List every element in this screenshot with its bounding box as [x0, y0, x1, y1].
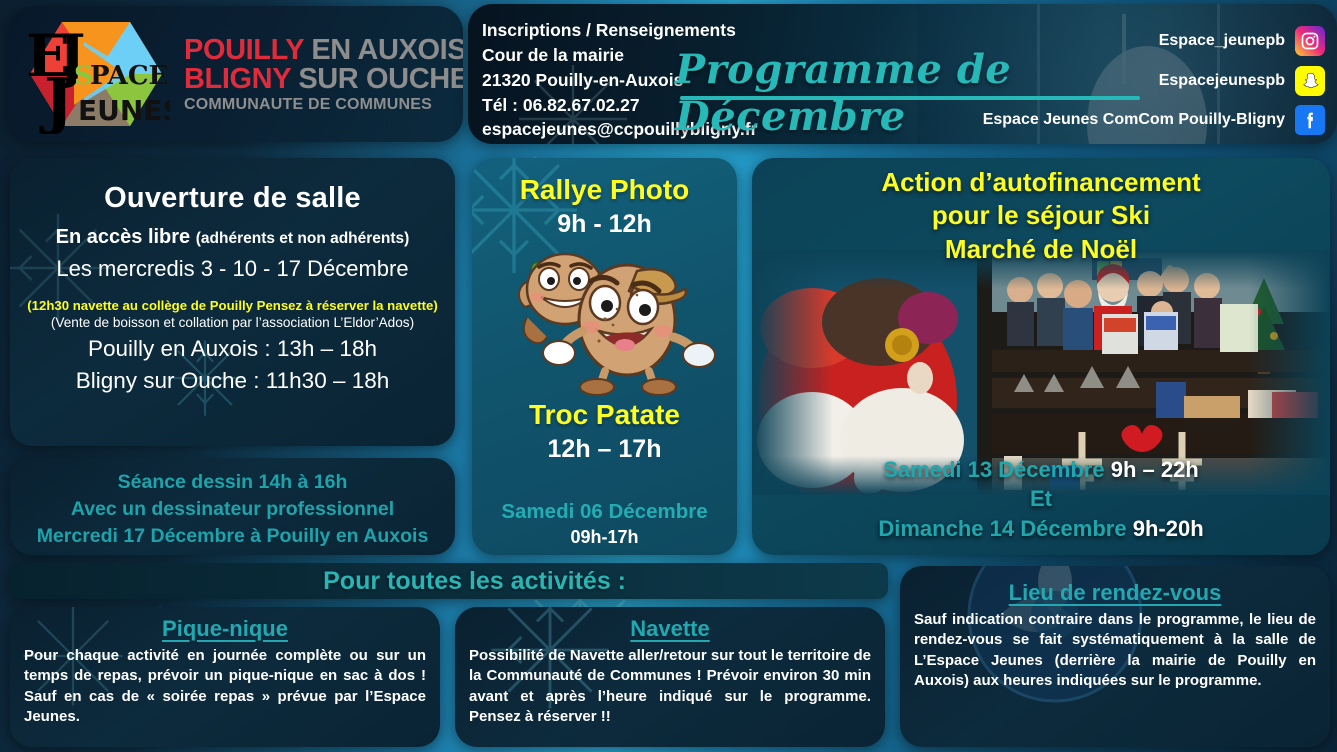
card-lieu-de-rendez-vous: Lieu de rendez-vous Sauf indication cont…: [900, 566, 1330, 747]
autofinancement-title-line-3: Marché de Noël: [752, 233, 1330, 266]
card-pique-nique-title: Pique-nique: [24, 616, 426, 642]
rallye-date-hours: 09h-17h: [472, 527, 737, 548]
logo-line1-red: POUILLY: [184, 34, 304, 66]
card-lieu-body: Sauf indication contraire dans le progra…: [914, 610, 1316, 692]
ouverture-title: Ouverture de salle: [24, 182, 441, 215]
poster-root: E J S PACE EUNES J POUILLY EN AUXOIS BLI…: [0, 0, 1337, 752]
autofinancement-date-1: Samedi 13 Décembre 9h – 22h: [752, 455, 1330, 484]
page-title-underline: [680, 96, 1140, 100]
header-info-panel: Inscriptions / Renseignements Cour de la…: [468, 4, 1337, 144]
autofinancement-date-1-hours: 9h – 22h: [1111, 457, 1199, 482]
card-lieu-title: Lieu de rendez-vous: [914, 580, 1316, 606]
rallye-hours: 9h - 12h: [472, 210, 737, 239]
ouverture-note-boisson: (Vente de boisson et collation par l’ass…: [24, 315, 441, 330]
card-navette-body: Possibilité de Navette aller/retour sur …: [469, 646, 871, 728]
logo-line3: COMMUNAUTE DE COMMUNES: [184, 97, 463, 113]
logo-line2-grey: SUR OUCHE: [298, 63, 463, 95]
autofinancement-date-2-label: Dimanche 14 Décembre: [878, 516, 1126, 541]
svg-text:PACE: PACE: [90, 61, 168, 91]
card-pique-nique: Pique-nique Pour chaque activité en jour…: [10, 607, 440, 747]
card-pique-nique-body: Pour chaque activité en journée complète…: [24, 646, 426, 728]
autofinancement-date-2-hours: 9h-20h: [1133, 516, 1204, 541]
banner-pour-toutes-les-activites: Pour toutes les activités :: [10, 563, 888, 599]
header-logo-panel: E J S PACE EUNES J POUILLY EN AUXOIS BLI…: [8, 6, 463, 142]
autofinancement-dates: Samedi 13 Décembre 9h – 22h Et Dimanche …: [752, 455, 1330, 543]
social-snapchat-label: Espacejeunespb: [1159, 72, 1285, 90]
ouverture-hours-bligny: Bligny sur Ouche : 11h30 – 18h: [24, 368, 441, 394]
autofinancement-title-line-2: pour le séjour Ski: [752, 199, 1330, 232]
autofinancement-title: Action d’autofinancement pour le séjour …: [752, 158, 1330, 266]
logo-line1-grey: EN AUXOIS: [311, 34, 463, 66]
social-facebook[interactable]: Espace Jeunes ComCom Pouilly-Bligny: [983, 105, 1325, 135]
dessin-line-3: Mercredi 17 Décembre à Pouilly en Auxois: [10, 523, 455, 550]
dessin-line-2: Avec un dessinateur professionnel: [10, 496, 455, 523]
social-instagram-label: Espace_jeunepb: [1159, 32, 1285, 50]
card-navette: Navette Possibilité de Navette aller/ret…: [455, 607, 885, 747]
autofinancement-date-1-label: Samedi 13 Décembre: [883, 457, 1104, 482]
panel-ouverture-de-salle: Ouverture de salle En accès libre (adhér…: [10, 158, 455, 446]
panel-action-autofinancement: Action d’autofinancement pour le séjour …: [752, 158, 1330, 555]
banner-label: Pour toutes les activités :: [10, 563, 888, 599]
contact-line-1: Inscriptions / Renseignements: [482, 18, 757, 43]
autofinancement-title-line-1: Action d’autofinancement: [752, 166, 1330, 199]
card-navette-title: Navette: [469, 616, 871, 642]
potato-mascots-icon: [487, 245, 722, 395]
social-facebook-label: Espace Jeunes ComCom Pouilly-Bligny: [983, 111, 1285, 129]
logo-line2-red: BLIGNY: [184, 63, 291, 95]
rallye-date: Samedi 06 Décembre: [472, 500, 737, 524]
instagram-icon[interactable]: [1295, 26, 1325, 56]
ouverture-subtitle: En accès libre (adhérents et non adhéren…: [24, 226, 441, 249]
espace-jeunes-logo-icon: E J S PACE EUNES J: [22, 14, 170, 134]
autofinancement-conjunction: Et: [752, 484, 1330, 513]
ouverture-subtitle-strong: En accès libre: [56, 226, 191, 248]
autofinancement-date-2: Dimanche 14 Décembre 9h-20h: [752, 514, 1330, 543]
ouverture-dates: Les mercredis 3 - 10 - 17 Décembre: [24, 256, 441, 282]
social-instagram[interactable]: Espace_jeunepb: [1159, 26, 1325, 56]
facebook-icon[interactable]: [1295, 105, 1325, 135]
dessin-line-1: Séance dessin 14h à 16h: [10, 469, 455, 496]
snapchat-icon[interactable]: [1295, 66, 1325, 96]
svg-text:J: J: [39, 64, 73, 134]
panel-seance-dessin: Séance dessin 14h à 16h Avec un dessinat…: [10, 458, 455, 555]
ouverture-hours-pouilly: Pouilly en Auxois : 13h – 18h: [24, 336, 441, 362]
svg-text:EUNES: EUNES: [78, 94, 170, 127]
panel-rallye-photo: Rallye Photo 9h - 12h: [472, 158, 737, 555]
troc-patate-hours: 12h – 17h: [472, 435, 737, 464]
ouverture-subtitle-small: (adhérents et non adhérents): [196, 230, 410, 247]
social-snapchat[interactable]: Espacejeunespb: [1159, 66, 1325, 96]
troc-patate-title: Troc Patate: [472, 399, 737, 431]
logo-wordmark: POUILLY EN AUXOIS BLIGNY SUR OUCHE COMMU…: [184, 36, 463, 113]
rallye-title: Rallye Photo: [472, 174, 737, 206]
ouverture-note-navette: (12h30 navette au collège de Pouilly Pen…: [24, 298, 441, 313]
